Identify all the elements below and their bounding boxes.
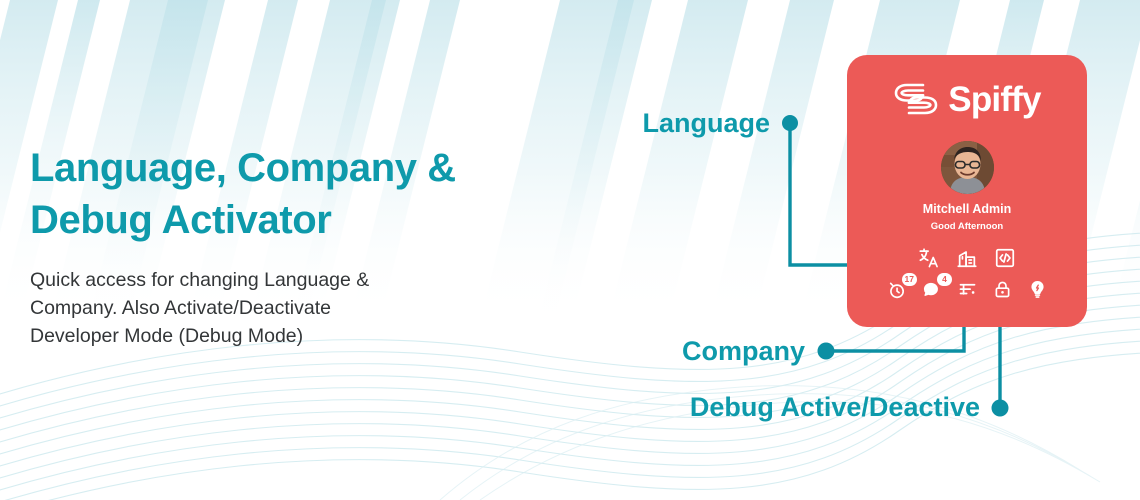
badge-activities-count: 17 [902, 273, 917, 286]
connector-dot-debug [992, 400, 1009, 417]
connector-dot-company [818, 343, 835, 360]
avatar[interactable] [941, 141, 994, 194]
clock-activities-icon[interactable]: 17 [886, 278, 908, 300]
filter-tasks-icon[interactable] [956, 278, 978, 300]
spiffy-paperclip-logo-icon [893, 77, 939, 121]
code-debug-icon[interactable] [994, 247, 1016, 269]
page-description: Quick access for changing Language & Com… [30, 266, 470, 350]
quick-action-icon-row [918, 247, 1016, 269]
lightbulb-icon[interactable] [1026, 278, 1048, 300]
connector-dot-language [782, 115, 798, 131]
page-title: Language, Company & Debug Activator [30, 142, 550, 246]
chat-bubble-icon[interactable]: 4 [921, 278, 943, 300]
translate-language-icon[interactable] [918, 247, 940, 269]
status-icon-row: 17 4 [886, 278, 1048, 300]
promo-banner: Language, Company & Debug Activator Quic… [0, 0, 1140, 500]
copy-block: Language, Company & Debug Activator Quic… [30, 142, 550, 350]
brand-lockup: Spiffy [893, 73, 1040, 125]
user-systray-card: Spiffy [847, 55, 1087, 327]
user-greeting: Good Afternoon [931, 222, 1003, 232]
callout-label-debug: Debug Active/Deactive [440, 394, 980, 421]
user-avatar-photo [941, 141, 994, 194]
badge-messages-count: 4 [937, 273, 952, 286]
brand-name: Spiffy [948, 82, 1040, 117]
callout-label-language: Language [440, 110, 770, 137]
callout-label-company: Company [440, 338, 805, 365]
user-name: Mitchell Admin [923, 203, 1011, 216]
lock-icon[interactable] [991, 278, 1013, 300]
company-building-icon[interactable] [956, 247, 978, 269]
